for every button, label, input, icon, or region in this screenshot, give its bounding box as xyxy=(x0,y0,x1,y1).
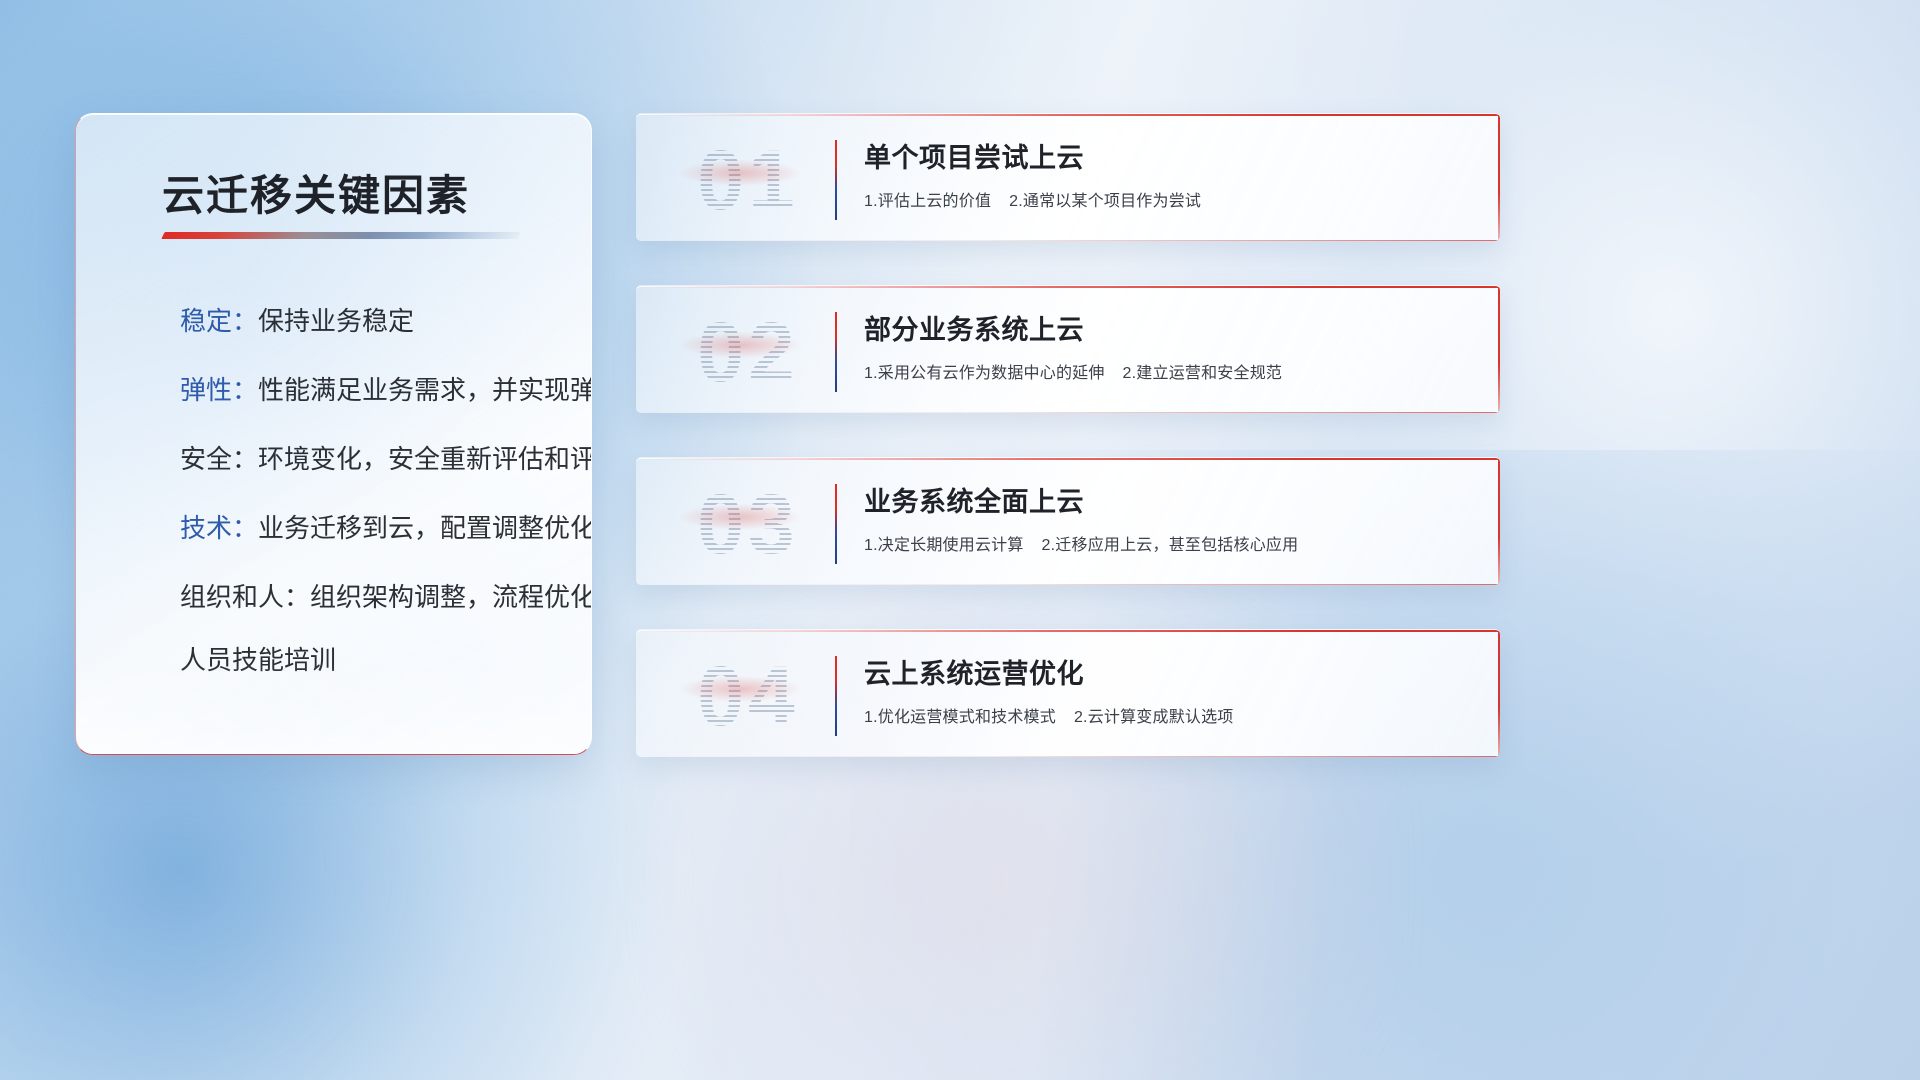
card-right-accent-line xyxy=(1498,630,1500,757)
stage-number-watermark: 03 xyxy=(672,478,824,570)
stage-card[interactable]: 03 业务系统全面上云 1.决定长期使用云计算2.迁移应用上云，甚至包括核心应用 xyxy=(636,457,1500,585)
list-item-text: 人员技能培训 xyxy=(180,645,336,675)
card-bottom-accent-line xyxy=(636,412,1500,414)
card-title: 单个项目尝试上云 xyxy=(864,136,1476,175)
key-factors-list: 稳定：保持业务稳定 弹性：性能满足业务需求，并实现弹性 安全：环境变化，安全重新… xyxy=(108,304,565,679)
card-right-accent-line xyxy=(1498,286,1500,413)
migration-stage-cards: 01 单个项目尝试上云 1.评估上云的价值2.通常以某个项目作为尝试 02 部分… xyxy=(636,113,1500,757)
list-item-label: 组织和人： xyxy=(180,582,310,612)
list-item-text: 环境变化，安全重新评估和评审 xyxy=(258,444,592,474)
list-item: 组织和人：组织架构调整，流程优化， xyxy=(108,580,565,615)
stage-card[interactable]: 02 部分业务系统上云 1.采用公有云作为数据中心的延伸2.建立运营和安全规范 xyxy=(636,285,1500,413)
card-top-accent-line xyxy=(636,286,1500,288)
card-description: 1.采用公有云作为数据中心的延伸2.建立运营和安全规范 xyxy=(864,359,1476,383)
key-factors-panel: 云迁移关键因素 稳定：保持业务稳定 弹性：性能满足业务需求，并实现弹性 安全：环… xyxy=(75,113,592,755)
card-title: 部分业务系统上云 xyxy=(864,308,1476,347)
card-divider-bar xyxy=(835,484,837,564)
list-item: 稳定：保持业务稳定 xyxy=(108,304,565,339)
card-top-accent-line xyxy=(636,114,1500,116)
card-top-accent-line xyxy=(636,458,1500,460)
list-item-continuation: 人员技能培训 xyxy=(108,643,565,678)
card-body: 云上系统运营优化 1.优化运营模式和技术模式2.云计算变成默认选项 xyxy=(864,652,1476,727)
panel-title: 云迁移关键因素 xyxy=(162,162,470,223)
stage-number-watermark: 04 xyxy=(672,650,824,742)
list-item-label: 稳定： xyxy=(180,306,258,336)
card-body: 部分业务系统上云 1.采用公有云作为数据中心的延伸2.建立运营和安全规范 xyxy=(864,308,1476,383)
list-item: 安全：环境变化，安全重新评估和评审 xyxy=(108,442,565,477)
stage-card[interactable]: 04 云上系统运营优化 1.优化运营模式和技术模式2.云计算变成默认选项 xyxy=(636,629,1500,757)
slide-stage: 云迁移关键因素 稳定：保持业务稳定 弹性：性能满足业务需求，并实现弹性 安全：环… xyxy=(0,0,1920,1080)
card-description-part-1: 1.采用公有云作为数据中心的延伸 xyxy=(864,365,1105,382)
stage-number-watermark: 02 xyxy=(672,306,824,398)
card-right-accent-line xyxy=(1498,458,1500,585)
card-description-part-2: 2.建立运营和安全规范 xyxy=(1123,365,1283,382)
card-description: 1.优化运营模式和技术模式2.云计算变成默认选项 xyxy=(864,703,1476,727)
card-title: 云上系统运营优化 xyxy=(864,652,1476,691)
card-description-part-1: 1.优化运营模式和技术模式 xyxy=(864,709,1056,726)
card-divider-bar xyxy=(835,312,837,392)
list-item-text: 保持业务稳定 xyxy=(258,306,414,336)
list-item: 技术：业务迁移到云，配置调整优化 xyxy=(108,511,565,546)
card-right-accent-line xyxy=(1498,114,1500,241)
list-item-label: 弹性： xyxy=(180,375,258,405)
card-bottom-accent-line xyxy=(636,756,1500,758)
card-description: 1.评估上云的价值2.通常以某个项目作为尝试 xyxy=(864,187,1476,211)
card-description-part-2: 2.迁移应用上云，甚至包括核心应用 xyxy=(1042,537,1299,554)
card-divider-bar xyxy=(835,656,837,736)
card-body: 单个项目尝试上云 1.评估上云的价值2.通常以某个项目作为尝试 xyxy=(864,136,1476,211)
list-item-text: 组织架构调整，流程优化， xyxy=(310,582,592,612)
list-item-label: 技术： xyxy=(180,513,258,543)
card-title: 业务系统全面上云 xyxy=(864,480,1476,519)
card-description: 1.决定长期使用云计算2.迁移应用上云，甚至包括核心应用 xyxy=(864,531,1476,555)
card-top-accent-line xyxy=(636,630,1500,632)
card-description-part-2: 2.通常以某个项目作为尝试 xyxy=(1009,193,1201,210)
card-description-part-1: 1.评估上云的价值 xyxy=(864,193,991,210)
card-body: 业务系统全面上云 1.决定长期使用云计算2.迁移应用上云，甚至包括核心应用 xyxy=(864,480,1476,555)
stage-card[interactable]: 01 单个项目尝试上云 1.评估上云的价值2.通常以某个项目作为尝试 xyxy=(636,113,1500,241)
stage-number-watermark: 01 xyxy=(672,134,824,226)
list-item-label: 安全： xyxy=(180,444,258,474)
card-description-part-2: 2.云计算变成默认选项 xyxy=(1074,709,1234,726)
title-underline-gradient xyxy=(161,232,520,239)
card-bottom-accent-line xyxy=(636,584,1500,586)
card-divider-bar xyxy=(835,140,837,220)
list-item-text: 业务迁移到云，配置调整优化 xyxy=(258,513,592,543)
list-item: 弹性：性能满足业务需求，并实现弹性 xyxy=(108,373,565,408)
card-bottom-accent-line xyxy=(636,240,1500,242)
card-description-part-1: 1.决定长期使用云计算 xyxy=(864,537,1024,554)
list-item-text: 性能满足业务需求，并实现弹性 xyxy=(258,375,592,405)
